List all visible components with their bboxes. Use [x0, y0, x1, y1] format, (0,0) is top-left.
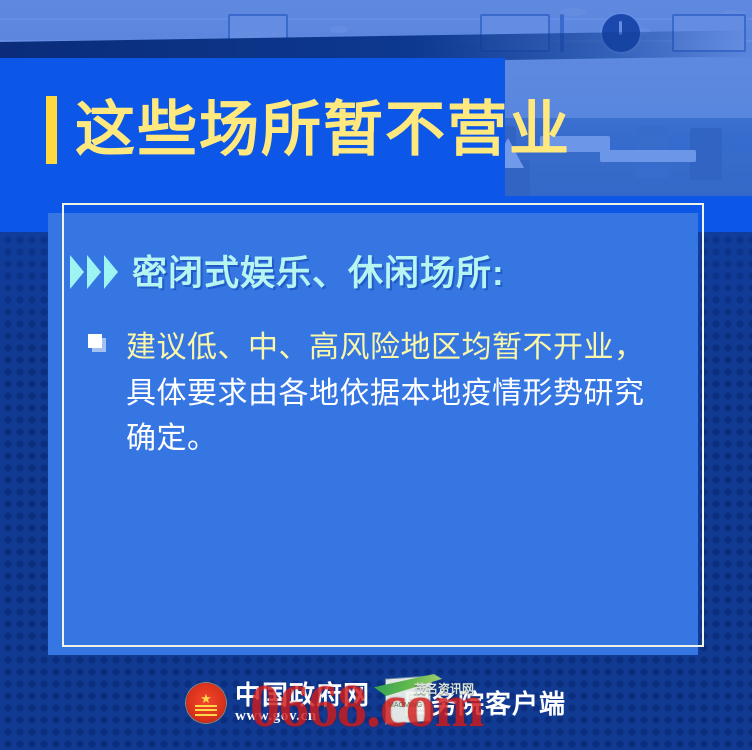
page-title: 这些场所暂不营业: [46, 96, 571, 164]
china-national-emblem-icon: ★: [186, 683, 226, 723]
list-item-text-lead: 建议低、中、高风险地区均暂不开业，: [126, 331, 645, 364]
title-accent-bar: [46, 96, 57, 164]
section-heading-text: 密闭式娱乐、休闲场所:: [132, 245, 505, 296]
content-card: 密闭式娱乐、休闲场所: 建议低、中、高风险地区均暂不开业，具体要求由各地依据本地…: [48, 213, 698, 655]
list-item: 建议低、中、高风险地区均暂不开业，具体要求由各地依据本地疫情形势研究确定。: [88, 325, 668, 462]
watermark-domain: 0668.com: [250, 676, 484, 736]
square-bullet-icon: [88, 334, 110, 356]
section-heading: 密闭式娱乐、休闲场所:: [70, 245, 505, 296]
list-item-text: 建议低、中、高风险地区均暂不开业，具体要求由各地依据本地疫情形势研究确定。: [126, 325, 656, 462]
list-item-text-rest: 具体要求由各地依据本地疫情形势研究确定。: [126, 377, 645, 456]
title-text: 这些场所暂不营业: [75, 100, 571, 160]
poster-root: 这些场所暂不营业 密闭式娱乐、休闲场所: 建议低、中、高风险地区均暂不开业，具体…: [0, 0, 752, 750]
triple-chevron-right-icon: [70, 255, 118, 289]
